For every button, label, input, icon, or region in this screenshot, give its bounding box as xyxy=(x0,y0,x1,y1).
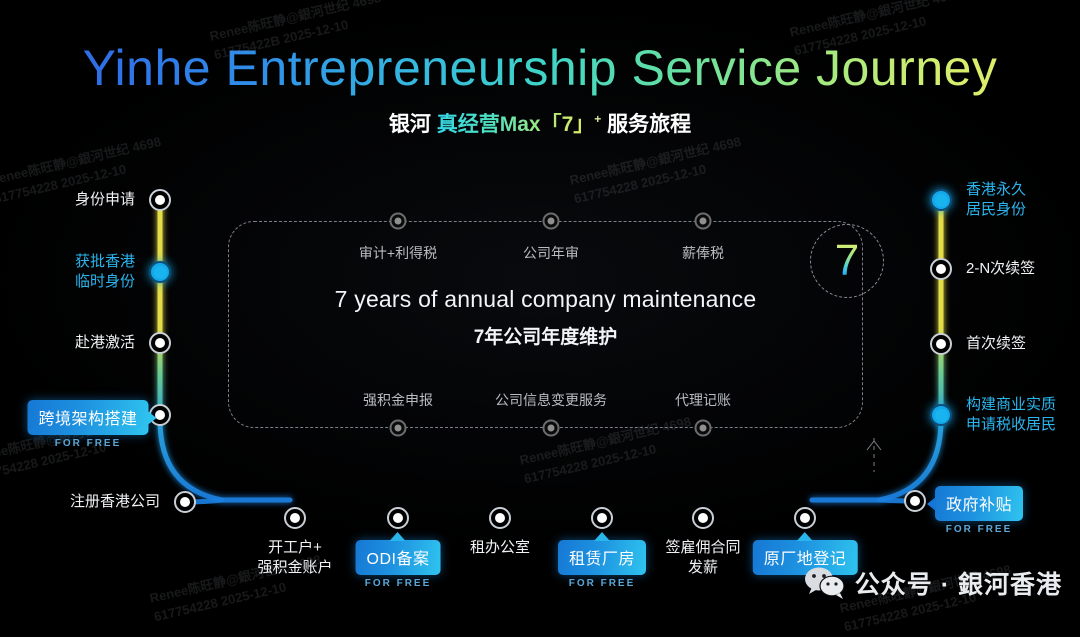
left-station-node-2[interactable] xyxy=(149,332,171,354)
left-station-label-1: 获批香港临时身份 xyxy=(75,252,135,293)
left-station-badge-3[interactable]: 跨境架构搭建 xyxy=(27,400,148,435)
maintenance-top-node-1[interactable] xyxy=(543,213,560,230)
maintenance-top-label-2: 薪俸税 xyxy=(682,244,724,263)
right-station-node-3[interactable] xyxy=(930,404,952,426)
bottom-station-label-0: 开工户+强积金账户 xyxy=(257,538,332,579)
page-title: Yinhe Entrepreneurship Service Journey xyxy=(0,40,1080,98)
maintenance-bottom-label-2: 代理记账 xyxy=(675,391,731,410)
bottom-station-node-2[interactable] xyxy=(489,507,511,529)
right-station-node-4[interactable] xyxy=(904,490,926,512)
maintenance-bottom-node-1[interactable] xyxy=(543,420,560,437)
maintenance-headline-en: 7 years of annual company maintenance xyxy=(228,286,863,313)
bottom-station-node-1[interactable] xyxy=(387,507,409,529)
bottom-station-badge-3-wrap: 租赁厂房FOR FREE xyxy=(558,540,646,589)
wechat-footer: 公众号 · 銀河香港 xyxy=(804,565,1062,601)
left-station-node-0[interactable] xyxy=(149,189,171,211)
subtitle-prefix: 银河 xyxy=(389,113,437,136)
right-station-badge-4-wrap: 政府补贴FOR FREE xyxy=(935,486,1023,535)
bottom-station-node-0[interactable] xyxy=(284,507,306,529)
left-station-node-1[interactable] xyxy=(149,261,171,283)
page-subtitle: 银河 真经营Max「7」+ 服务旅程 xyxy=(0,108,1080,138)
subtitle-suffix: 服务旅程 xyxy=(601,113,691,136)
maintenance-bottom-label-1: 公司信息变更服务 xyxy=(495,391,607,410)
wechat-label: 公众号 · 銀河香港 xyxy=(855,565,1062,601)
maintenance-bottom-node-2[interactable] xyxy=(695,420,712,437)
maintenance-top-node-0[interactable] xyxy=(390,213,407,230)
left-station-badge-3-wrap: 跨境架构搭建FOR FREE xyxy=(27,400,148,449)
subtitle-gradient: 真经营Max「7」 xyxy=(437,113,595,136)
seven-years-number: 7 xyxy=(835,239,859,283)
left-station-label-0: 身份申请 xyxy=(75,190,135,210)
maintenance-headline-group: 7 years of annual company maintenance 7年… xyxy=(228,286,863,349)
maintenance-top-node-2[interactable] xyxy=(695,213,712,230)
bottom-station-badge-1-wrap: ODI备案FOR FREE xyxy=(356,540,441,589)
left-station-label-2: 赴港激活 xyxy=(75,333,135,353)
for-free-tag: FOR FREE xyxy=(935,524,1023,535)
right-station-label-2: 首次续签 xyxy=(966,334,1026,354)
bottom-station-node-3[interactable] xyxy=(591,507,613,529)
bottom-station-label-2: 租办公室 xyxy=(470,538,530,558)
for-free-tag: FOR FREE xyxy=(27,438,148,449)
right-station-label-0: 香港永久居民身份 xyxy=(966,180,1026,221)
maintenance-headline-zh: 7年公司年度维护 xyxy=(228,322,863,349)
bottom-station-label-4: 签雇佣合同发薪 xyxy=(665,538,740,579)
right-station-label-3: 构建商业实质申请税收居民 xyxy=(966,395,1056,436)
bottom-station-node-5[interactable] xyxy=(794,507,816,529)
bottom-station-badge-1[interactable]: ODI备案 xyxy=(356,540,441,575)
right-station-label-1: 2-N次续签 xyxy=(966,259,1035,279)
right-station-node-2[interactable] xyxy=(930,333,952,355)
watermark-3: Renee陈旺静@銀河世纪 4698617754228 2025-12-10 xyxy=(568,133,747,209)
right-station-node-0[interactable] xyxy=(930,189,952,211)
for-free-tag: FOR FREE xyxy=(356,578,441,589)
right-station-badge-4[interactable]: 政府补贴 xyxy=(935,486,1023,521)
left-station-node-4[interactable] xyxy=(174,491,196,513)
wechat-icon xyxy=(804,566,846,600)
maintenance-top-label-0: 审计+利得税 xyxy=(359,244,437,263)
bottom-station-node-4[interactable] xyxy=(692,507,714,529)
maintenance-bottom-label-0: 强积金申报 xyxy=(363,391,433,410)
maintenance-bottom-node-0[interactable] xyxy=(390,420,407,437)
maintenance-top-label-1: 公司年审 xyxy=(523,244,579,263)
left-station-label-4: 注册香港公司 xyxy=(70,492,160,512)
bottom-station-badge-3[interactable]: 租赁厂房 xyxy=(558,540,646,575)
right-station-node-1[interactable] xyxy=(930,258,952,280)
for-free-tag: FOR FREE xyxy=(558,578,646,589)
